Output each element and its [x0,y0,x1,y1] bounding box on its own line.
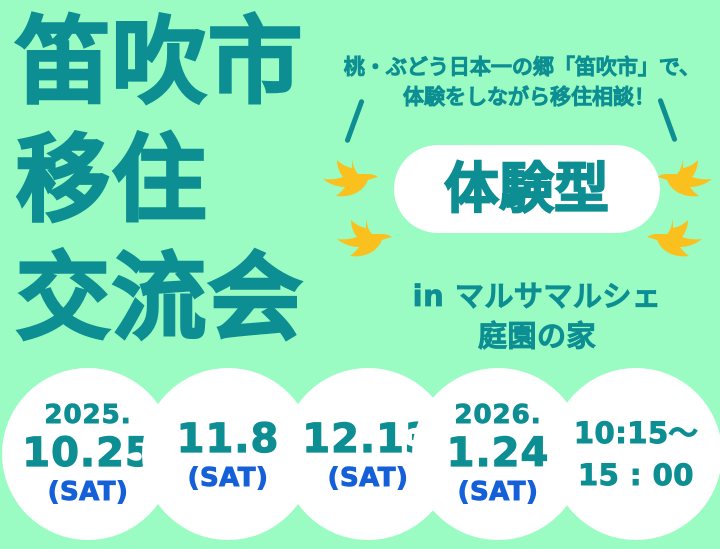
event-title-line-1: 笛吹市 [16,4,376,122]
event-title-line-2: 移住 [16,122,376,240]
date-value: 1.24 [447,429,550,477]
event-title: 笛吹市 移住 交流会 [16,4,376,358]
venue-sub-name: 庭園の家 [372,316,702,356]
date-weekday: (SAT) [48,477,129,507]
date-value: 11.8 [177,415,280,463]
event-title-line-3: 交流会 [16,240,376,358]
venue-name: in マルサマルシェ [372,276,702,316]
hummingbird-icon [645,212,703,264]
hummingbird-icon [655,152,713,204]
date-year: 2025. [44,401,131,429]
event-subtitle: 桃・ぶどう日本一の郷「笛吹市」で、 体験をしながら移住相談！ [336,52,708,112]
time-circle: 10:15〜 15 : 00 [550,368,720,540]
schedule-circles: 2025. 10.25 (SAT) 11.8 (SAT) 12.13 (SAT)… [0,368,720,549]
date-value: 10.25 [22,429,154,477]
experience-type-badge: 体験型 [394,145,660,233]
event-subtitle-line-2: 体験をしながら移住相談！ [336,82,708,112]
venue-info: in マルサマルシェ 庭園の家 [372,276,702,356]
time-end: 15 : 00 [578,454,694,496]
event-flyer: 笛吹市 移住 交流会 桃・ぶどう日本一の郷「笛吹市」で、 体験をしながら移住相談… [0,0,720,549]
date-weekday: (SAT) [188,463,269,493]
date-year: 2026. [454,401,541,429]
date-weekday: (SAT) [328,463,409,493]
event-subtitle-line-1: 桃・ぶどう日本一の郷「笛吹市」で、 [336,52,708,82]
date-weekday: (SAT) [458,477,539,507]
time-start: 10:15〜 [574,412,698,454]
badge-label: 体験型 [445,161,610,217]
